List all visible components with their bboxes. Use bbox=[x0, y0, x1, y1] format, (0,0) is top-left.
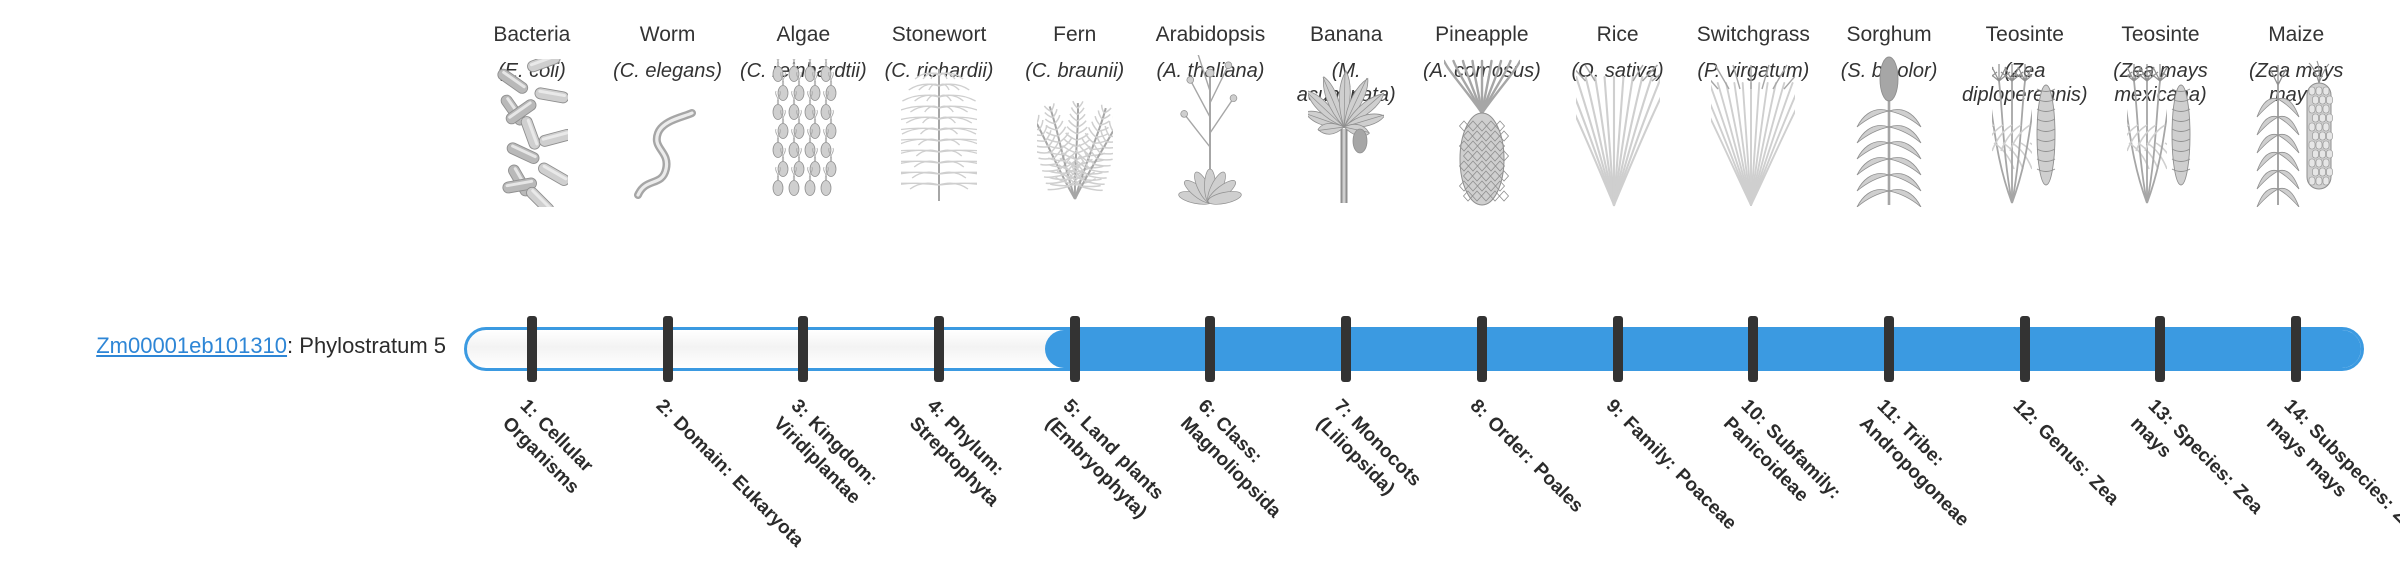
phylostratum-number: 10: bbox=[1737, 395, 1771, 429]
gene-label-separator: : bbox=[287, 333, 299, 358]
phylostratum-name: Genus: Zea bbox=[2033, 420, 2122, 509]
species-scientific-name: (C. elegans) bbox=[613, 59, 722, 107]
species-column: Sorghum(S. bicolor) bbox=[1821, 22, 1957, 207]
phylostratum-number: 7: bbox=[1330, 395, 1357, 422]
phylostratum-tick-label: 12: Genus: Zea bbox=[2007, 394, 2166, 553]
phylostratum-tick-label: 1: Cellular Organisms bbox=[496, 394, 673, 571]
phylostratum-name: Class: Magnoliopsida bbox=[1176, 413, 1285, 522]
phylostratum-tick-label: 14: Subspecies: Zea mays mays bbox=[2261, 394, 2400, 571]
phylostratum-number: 11: bbox=[1873, 395, 1907, 429]
species-column: Pineapple(A. comosus) bbox=[1414, 22, 1550, 207]
species-common-name: Teosinte bbox=[1986, 22, 2064, 47]
species-column: Fern(C. braunii) bbox=[1007, 22, 1143, 207]
phylostratum-tick-label: 7: Monocots (Liliopsida) bbox=[1311, 394, 1488, 571]
species-column: Teosinte(Zea mays mexicana) bbox=[2093, 22, 2229, 207]
phylostratum-name: Order: Poales bbox=[1483, 413, 1587, 517]
phylostratum-tick-label: 11: Tribe: Andropogoneae bbox=[1854, 394, 2031, 571]
species-common-name: Banana bbox=[1310, 22, 1382, 47]
phylostratum-name: Subspecies: Zea mays mays bbox=[2262, 413, 2400, 542]
phylostratum-name: Land plants (Embryophyta) bbox=[1041, 413, 1167, 523]
species-column: Worm(C. elegans) bbox=[600, 22, 736, 207]
stonewort-icon bbox=[901, 111, 977, 207]
phylostratum-number: 4: bbox=[923, 395, 950, 422]
phylostratum-number: 8: bbox=[1466, 395, 1493, 422]
species-header-strip: Bacteria(E. coli)Worm(C. elegans)Algae(C… bbox=[464, 22, 2364, 302]
phylostratum-number: 13: bbox=[2144, 395, 2178, 429]
species-common-name: Stonewort bbox=[892, 22, 987, 47]
arabidopsis-icon bbox=[1172, 111, 1248, 207]
phylostratum-name: Subfamily: Panicoideae bbox=[1719, 413, 1845, 506]
phylostratum-number: 3: bbox=[787, 395, 814, 422]
progress-fill bbox=[1045, 330, 2364, 368]
species-column: Switchgrass(P. virgatum) bbox=[1685, 22, 1821, 207]
species-column: Maize(Zea mays mays) bbox=[2228, 22, 2364, 207]
phylostratum-number: 2: bbox=[651, 395, 678, 422]
phylostratum-name: Cellular Organisms bbox=[498, 413, 597, 499]
fern-icon bbox=[1037, 111, 1113, 207]
phylostratum-value: Phylostratum 5 bbox=[299, 333, 446, 358]
species-common-name: Fern bbox=[1053, 22, 1096, 47]
species-column: Banana(M. acuminata) bbox=[1278, 22, 1414, 207]
phylostratum-tick-label: 9: Family: Poaceae bbox=[1600, 394, 1759, 553]
worm-icon bbox=[628, 111, 708, 207]
species-common-name: Teosinte bbox=[2121, 22, 2199, 47]
phylostratum-tick-label: 3: Kingdom: Viridiplantae bbox=[768, 394, 945, 571]
species-common-name: Switchgrass bbox=[1697, 22, 1810, 47]
gene-id-link[interactable]: Zm00001eb101310 bbox=[96, 333, 287, 358]
phylostratum-number: 14: bbox=[2280, 395, 2314, 429]
phylostratum-figure: Zm00001eb101310: Phylostratum 5 Bacteria… bbox=[0, 0, 2400, 580]
sorghum-icon bbox=[1851, 111, 1927, 207]
phylostratum-tick-label: 2: Domain: Eukaryota bbox=[650, 394, 809, 553]
species-common-name: Algae bbox=[776, 22, 830, 47]
phylostratum-number: 6: bbox=[1194, 395, 1221, 422]
phylostratum-tick-label: 10: Subfamily: Panicoideae bbox=[1718, 394, 1895, 571]
phylostratum-name: Species: Zea mays bbox=[2126, 413, 2267, 518]
progress-track bbox=[464, 327, 2364, 371]
phylostratum-number: 12: bbox=[2008, 395, 2042, 429]
rice-icon bbox=[1576, 111, 1660, 207]
phylostratum-tick-label: 4: Phylum: Streptophyta bbox=[904, 394, 1081, 571]
phylostratum-number: 1: bbox=[516, 395, 543, 422]
phylostratum-name: Monocots (Liliopsida) bbox=[1312, 413, 1425, 500]
bacteria-icon bbox=[496, 111, 568, 207]
species-column: Algae(C. reinhardtii) bbox=[735, 22, 871, 207]
species-common-name: Sorghum bbox=[1846, 22, 1931, 47]
species-column: Bacteria(E. coli) bbox=[464, 22, 600, 207]
species-column: Stonewort(C. richardii) bbox=[871, 22, 1007, 207]
species-common-name: Pineapple bbox=[1435, 22, 1528, 47]
species-common-name: Arabidopsis bbox=[1156, 22, 1266, 47]
species-common-name: Bacteria bbox=[493, 22, 570, 47]
species-common-name: Rice bbox=[1597, 22, 1639, 47]
phylostratum-number: 5: bbox=[1058, 395, 1085, 422]
maize-icon bbox=[2256, 111, 2336, 207]
species-common-name: Maize bbox=[2268, 22, 2324, 47]
switchgrass-icon bbox=[1711, 111, 1795, 207]
phylostratum-name: Kingdom: Viridiplantae bbox=[769, 413, 881, 509]
teosinte-mexicana-icon bbox=[2127, 111, 2193, 207]
phylostratum-tick-label: 8: Order: Poales bbox=[1464, 394, 1623, 553]
phylostratum-tick-label: 13: Species: Zea mays bbox=[2125, 394, 2302, 571]
phylostratum-name: Family: Poaceae bbox=[1618, 413, 1740, 535]
phylostratum-tick-label: 5: Land plants (Embryophyta) bbox=[1039, 394, 1216, 571]
species-column: Arabidopsis(A. thaliana) bbox=[1143, 22, 1279, 207]
phylostratum-name: Tribe: Andropogoneae bbox=[1855, 413, 1973, 531]
phylostratum-name: Domain: Eukaryota bbox=[668, 413, 807, 552]
species-column: Teosinte(Zea diploperennis) bbox=[1957, 22, 2093, 207]
phylostratum-tick-label: 6: Class: Magnoliopsida bbox=[1175, 394, 1352, 571]
gene-phylostratum-label: Zm00001eb101310: Phylostratum 5 bbox=[0, 333, 460, 359]
phylostratum-progress-bar[interactable] bbox=[464, 327, 2364, 371]
phylostratum-name: Phylum: Streptophyta bbox=[905, 413, 1008, 511]
pineapple-icon bbox=[1444, 111, 1520, 207]
phylostratum-number: 9: bbox=[1601, 395, 1628, 422]
species-common-name: Worm bbox=[640, 22, 696, 47]
species-column: Rice(O. sativa) bbox=[1550, 22, 1686, 207]
algae-icon bbox=[765, 111, 841, 207]
teosinte-diploperennis-icon bbox=[1992, 111, 2058, 207]
banana-icon bbox=[1308, 111, 1384, 207]
